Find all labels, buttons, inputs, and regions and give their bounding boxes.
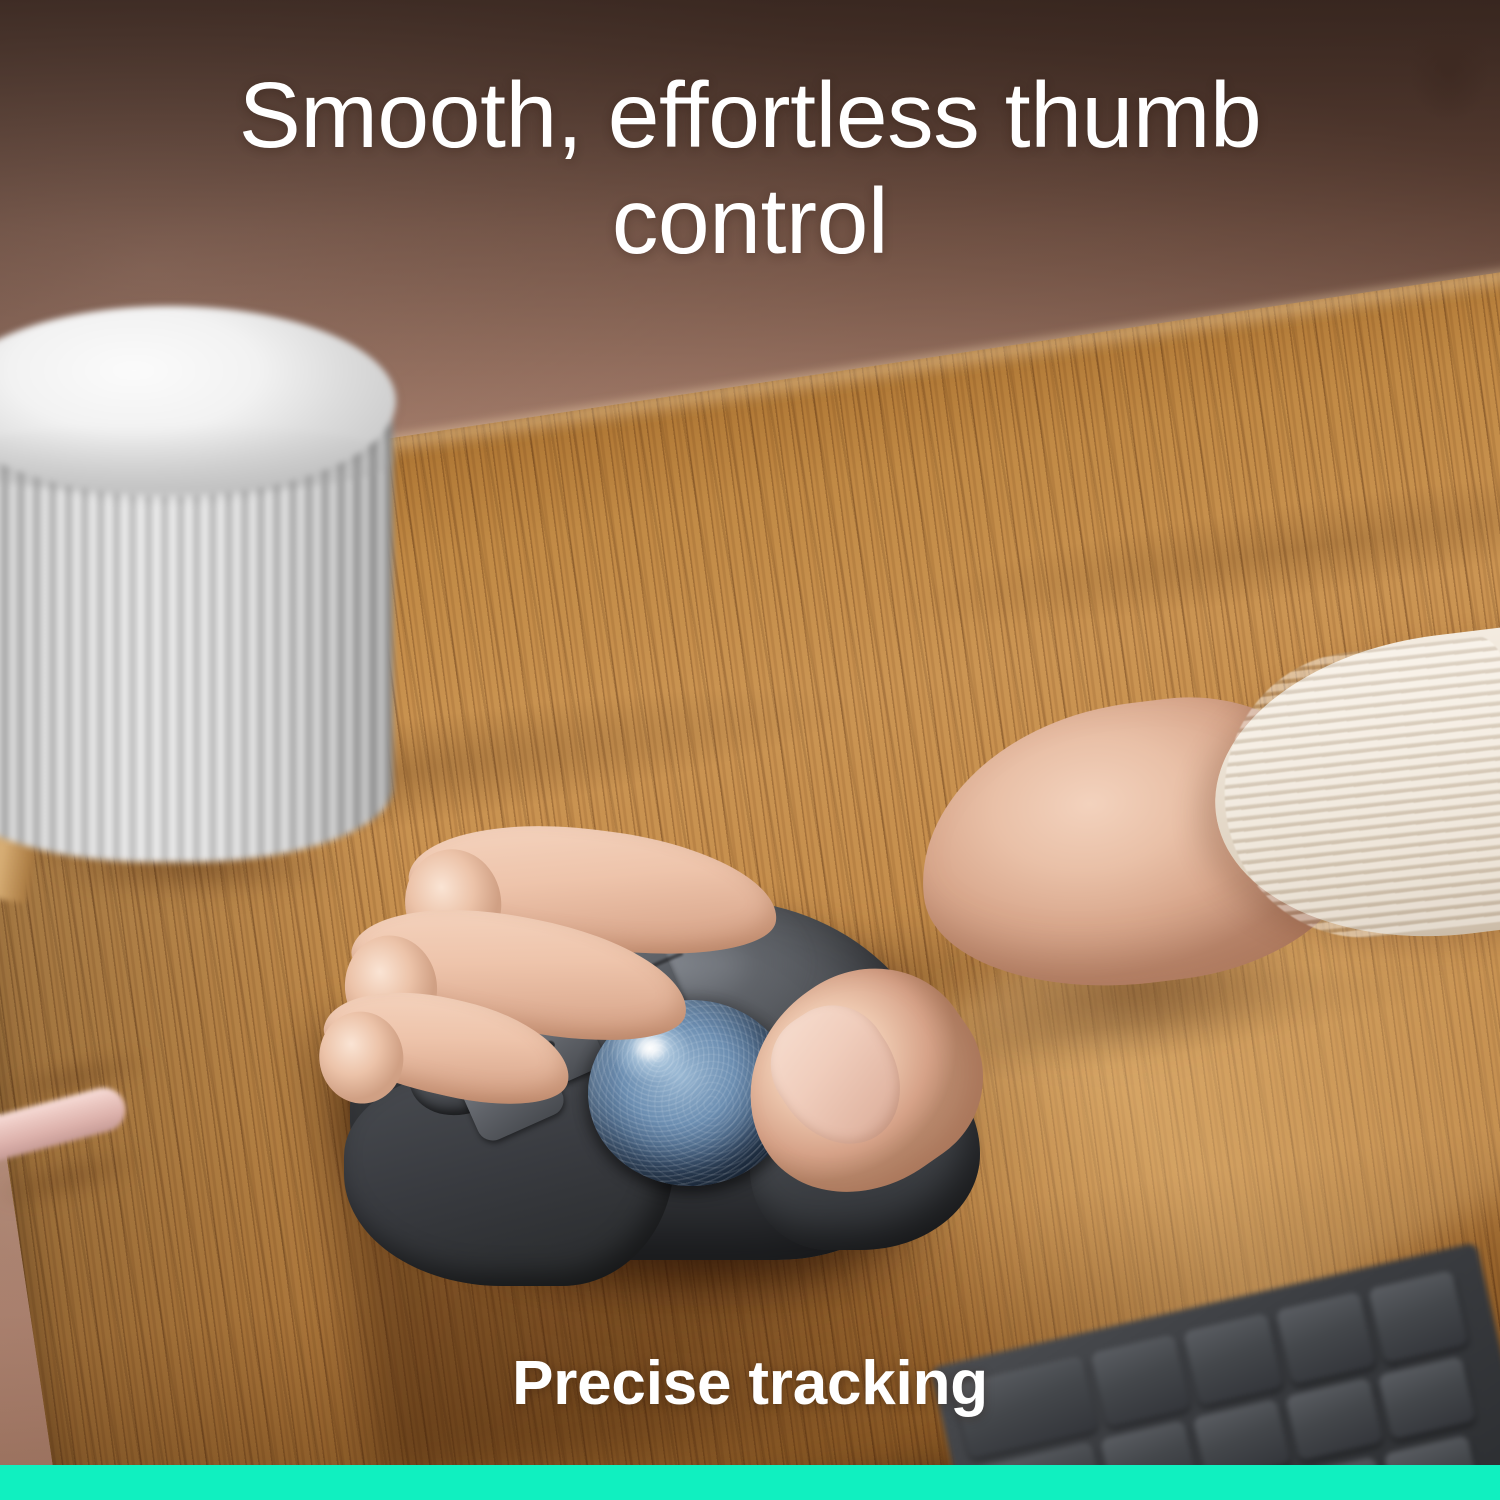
product-marketing-image: Smooth, effortless thumb control Precise… [0,0,1500,1500]
fluted-cylinder-vase [0,306,393,871]
brand-accent-bar [0,1465,1500,1500]
headline-text: Smooth, effortless thumb control [0,62,1500,274]
caption-text: Precise tracking [0,1348,1500,1419]
